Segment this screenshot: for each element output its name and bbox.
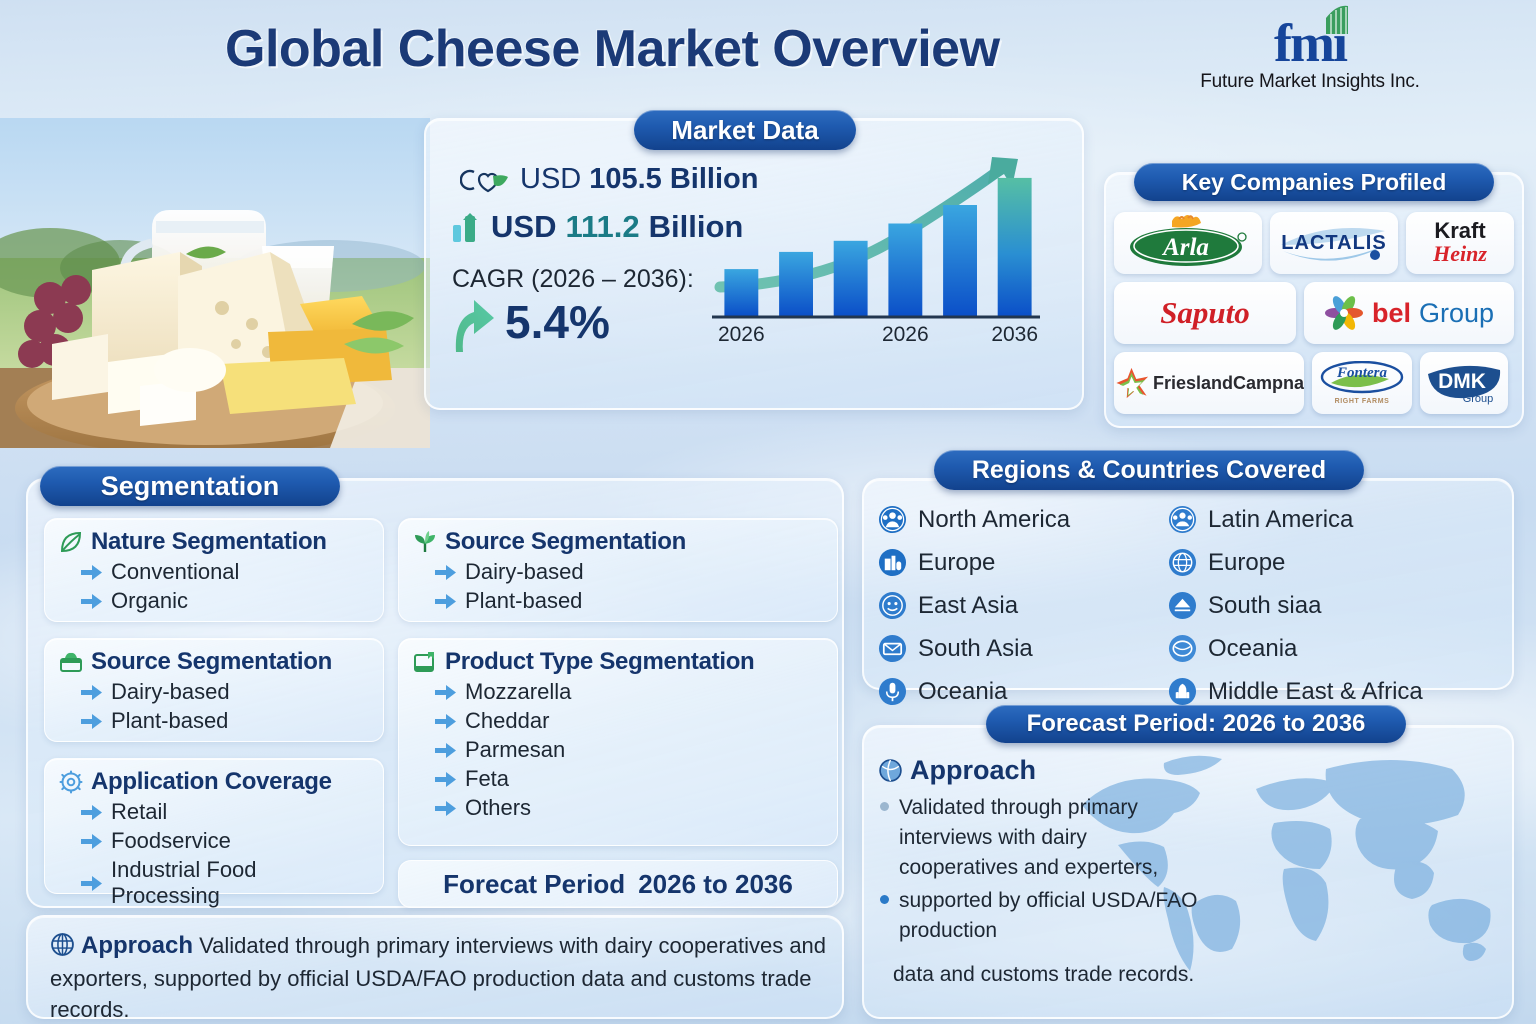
- arrow-right-icon: [81, 834, 102, 849]
- seg-list-item: Mozzarella: [435, 679, 823, 705]
- arrow-right-icon: [81, 714, 102, 729]
- market-data-header-pill: Market Data: [634, 110, 856, 150]
- seg-list-item: Cheddar: [435, 708, 823, 734]
- seg-item-label: Organic: [111, 588, 188, 614]
- seg-item-label: Mozzarella: [465, 679, 571, 705]
- globe-icon: [50, 932, 75, 957]
- approach-title: Approach: [81, 932, 193, 959]
- seg-item-label: Conventional: [111, 559, 239, 585]
- globe-grid-icon: [1168, 548, 1197, 577]
- logo-wordmark: fmi: [1274, 18, 1346, 69]
- seg-list-item: Retail: [81, 799, 369, 825]
- cheese-box-icon: [59, 650, 83, 674]
- region-label: North America: [918, 506, 1070, 534]
- regions-header-pill: Regions & Countries Covered: [934, 450, 1364, 490]
- market-value-current-prefix: USD: [520, 163, 581, 196]
- market-value-forecast-row: USD 111.2 Billion: [452, 209, 743, 245]
- seg-card-title: Application Coverage: [59, 768, 369, 796]
- seg-list-item: Industrial Food Processing: [81, 857, 369, 909]
- region-item[interactable]: South siaa: [1168, 591, 1423, 620]
- triangle-icon: [1168, 591, 1197, 620]
- bar-growth-icon: [452, 211, 482, 243]
- chart-x-tick: 2026: [718, 323, 765, 346]
- seg-title-text: Source Segmentation: [445, 528, 686, 556]
- seg-card-application: Application Coverage Retail Foodservice …: [44, 758, 384, 894]
- logo-subtitle: Future Market Insights Inc.: [1160, 71, 1460, 93]
- region-item[interactable]: Oceania: [1168, 634, 1423, 663]
- chart-x-tick: 2036: [991, 323, 1038, 346]
- region-label: Middle East & Africa: [1208, 678, 1423, 706]
- seg-list-item: Plant-based: [435, 588, 823, 614]
- forecast-approach-title-row: Approach: [878, 755, 1036, 786]
- product-tag-icon: [413, 650, 437, 674]
- region-item[interactable]: Latin America: [1168, 505, 1423, 534]
- company-logo-lactalis[interactable]: LACTALIS: [1270, 212, 1398, 274]
- seg-card-title: Product Type Segmentation: [413, 648, 823, 676]
- region-label: Europe: [1208, 549, 1285, 577]
- svg-text:Arla: Arla: [1161, 234, 1209, 261]
- svg-text:DMK: DMK: [1438, 370, 1486, 393]
- arrow-right-icon: [435, 801, 456, 816]
- regions-column-right: Latin America Europe South siaa: [1168, 505, 1423, 720]
- seg-item-label: Others: [465, 795, 531, 821]
- chart-x-tick: 2026: [882, 323, 929, 346]
- arrow-right-icon: [81, 876, 102, 891]
- chart-bar: [779, 252, 813, 316]
- arrow-right-icon: [81, 565, 102, 580]
- seg-item-label: Dairy-based: [111, 679, 230, 705]
- chart-bar: [998, 178, 1032, 316]
- bowl-icon: [1168, 634, 1197, 663]
- region-label: Europe: [918, 549, 995, 577]
- regions-column-left: North America Europe East Asia: [878, 505, 1070, 720]
- chart-bar: [888, 224, 922, 317]
- market-forecast-number: 111.2: [565, 209, 639, 245]
- seg-item-label: Plant-based: [111, 708, 228, 734]
- seg-list-item: Dairy-based: [435, 559, 823, 585]
- seg-list-item: Plant-based: [81, 708, 369, 734]
- globe-icon: [878, 758, 903, 783]
- arrow-right-icon: [81, 594, 102, 609]
- cheese-platter-photo: [0, 118, 430, 448]
- bel-text: bel: [1372, 298, 1411, 329]
- company-logo-kraftheinz[interactable]: Kraft Heinz: [1406, 212, 1514, 274]
- mosque-icon: [1168, 677, 1197, 706]
- svg-text:Fontera: Fontera: [1336, 365, 1388, 381]
- buildings-icon: [878, 548, 907, 577]
- region-item[interactable]: Middle East & Africa: [1168, 677, 1423, 706]
- bullet-item: Validated through primary interviews wit…: [880, 793, 1210, 882]
- seg-item-label: Feta: [465, 766, 509, 792]
- seg-item-label: Industrial Food Processing: [111, 857, 369, 909]
- chart-bar: [943, 205, 977, 316]
- arrow-right-icon: [81, 685, 102, 700]
- region-item[interactable]: Europe: [878, 548, 1070, 577]
- microphone-icon: [878, 677, 907, 706]
- seg-item-label: Plant-based: [465, 588, 582, 614]
- heinz-text: Heinz: [1433, 242, 1487, 265]
- face-icon: [878, 591, 907, 620]
- seg-item-label: Foodservice: [111, 828, 231, 854]
- region-item[interactable]: East Asia: [878, 591, 1070, 620]
- bullet-text: Validated through primary interviews wit…: [899, 793, 1210, 882]
- plant-sprout-icon: [413, 530, 437, 554]
- cagr-value: 5.4%: [505, 295, 610, 349]
- market-growth-bar-chart: 202620262036: [706, 155, 1046, 365]
- arrow-right-icon: [81, 805, 102, 820]
- bullet-item: supported by official USDA/FAO productio…: [880, 886, 1210, 946]
- key-companies-header-pill: Key Companies Profiled: [1134, 163, 1494, 201]
- region-item[interactable]: South Asia: [878, 634, 1070, 663]
- forecast-approach-tail: data and customs trade records.: [893, 963, 1194, 987]
- region-item[interactable]: Europe: [1168, 548, 1423, 577]
- seg-list-item: Parmesan: [435, 737, 823, 763]
- page-title: Global Cheese Market Overview: [225, 22, 1155, 77]
- forecast-approach-title: Approach: [910, 755, 1036, 786]
- arrow-right-icon: [435, 772, 456, 787]
- chart-bar: [724, 269, 758, 316]
- arrow-right-icon: [435, 685, 456, 700]
- company-logo-arla[interactable]: Arla: [1114, 212, 1262, 274]
- region-item[interactable]: Oceania: [878, 677, 1070, 706]
- company-logo-saputo[interactable]: Saputo: [1114, 282, 1296, 344]
- envelope-icon: [878, 634, 907, 663]
- fmi-logo: fmi Future Market Insights Inc.: [1160, 18, 1460, 93]
- seg-list-item: Organic: [81, 588, 369, 614]
- seg-card-title: Source Segmentation: [413, 528, 823, 556]
- seg-list-item: Conventional: [81, 559, 369, 585]
- gear-icon: [59, 770, 83, 794]
- company-logo-frieslandcampina[interactable]: FrieslandCampna: [1114, 352, 1304, 414]
- forecat-period-label: Forecat Period: [443, 869, 625, 900]
- region-item[interactable]: North America: [878, 505, 1070, 534]
- chart-bar: [834, 241, 868, 316]
- approach-text-block: Approach Validated through primary inter…: [50, 929, 830, 1024]
- seg-title-text: Nature Segmentation: [91, 528, 327, 556]
- seg-title-text: Source Segmentation: [91, 648, 332, 676]
- seg-list-item: Others: [435, 795, 823, 821]
- seg-list-item: Feta: [435, 766, 823, 792]
- seg-title-text: Application Coverage: [91, 768, 332, 796]
- seg-list-item: Foodservice: [81, 828, 369, 854]
- company-logo-dmk[interactable]: DMK Group: [1420, 352, 1508, 414]
- forecast-period-header-pill: Forecast Period: 2026 to 2036: [986, 705, 1406, 743]
- arrow-right-icon: [435, 714, 456, 729]
- company-logo-bel[interactable]: bel Group: [1304, 282, 1514, 344]
- region-label: Oceania: [918, 678, 1007, 706]
- region-label: East Asia: [918, 592, 1018, 620]
- seg-item-label: Dairy-based: [465, 559, 584, 585]
- seg-item-label: Cheddar: [465, 708, 549, 734]
- seg-card-title: Nature Segmentation: [59, 528, 369, 556]
- bel-group-text: Group: [1419, 298, 1494, 329]
- forecat-period-card: Forecat Period 2026 to 2036: [398, 860, 838, 908]
- region-label: South Asia: [918, 635, 1033, 663]
- seg-card-nature: Nature Segmentation Conventional Organic: [44, 518, 384, 622]
- up-arrow-icon: [452, 298, 498, 354]
- seg-card-source-right: Source Segmentation Dairy-based Plant-ba…: [398, 518, 838, 622]
- seg-list-item: Dairy-based: [81, 679, 369, 705]
- cagr-label: CAGR (2026 – 2036):: [452, 265, 694, 294]
- region-label: South siaa: [1208, 592, 1321, 620]
- segmentation-header-pill: Segmentation: [40, 466, 340, 506]
- seg-card-title: Source Segmentation: [59, 648, 369, 676]
- people-globe-icon: [878, 505, 907, 534]
- forecat-period-range: 2026 to 2036: [638, 869, 793, 900]
- forecast-approach-bullets: Validated through primary interviews wit…: [880, 793, 1210, 950]
- fonterra-tagline: RIGHT FARMS: [1335, 398, 1390, 405]
- bel-flower-icon: [1324, 293, 1364, 333]
- friesland-text: FrieslandCampna: [1153, 373, 1304, 394]
- seg-card-product-type: Product Type Segmentation Mozzarella Che…: [398, 638, 838, 846]
- people-globe-icon: [1168, 505, 1197, 534]
- arrow-right-icon: [435, 565, 456, 580]
- bullet-text: supported by official USDA/FAO productio…: [899, 886, 1210, 946]
- seg-card-source-left: Source Segmentation Dairy-based Plant-ba…: [44, 638, 384, 742]
- leaf-icon: [59, 530, 83, 554]
- bullet-dot: [880, 895, 889, 904]
- kraft-text: Kraft: [1434, 220, 1485, 242]
- region-label: Latin America: [1208, 506, 1353, 534]
- svg-text:Group: Group: [1463, 393, 1494, 405]
- svg-text:LACTALIS: LACTALIS: [1281, 232, 1386, 254]
- seg-item-label: Retail: [111, 799, 167, 825]
- company-logo-fonterra[interactable]: Fontera RIGHT FARMS: [1312, 352, 1412, 414]
- arrow-right-icon: [435, 743, 456, 758]
- seg-item-label: Parmesan: [465, 737, 565, 763]
- region-label: Oceania: [1208, 635, 1297, 663]
- market-forecast-currency: USD: [491, 209, 556, 245]
- logo-bars-icon: [1324, 4, 1350, 34]
- heartbeat-icon: [460, 166, 512, 194]
- arrow-right-icon: [435, 594, 456, 609]
- friesland-star-icon: [1114, 362, 1149, 404]
- key-companies-grid: Arla LACTALIS Kraft Heinz Saputo: [1114, 212, 1514, 414]
- bullet-dot: [880, 802, 889, 811]
- saputo-text: Saputo: [1160, 295, 1250, 331]
- seg-title-text: Product Type Segmentation: [445, 648, 754, 676]
